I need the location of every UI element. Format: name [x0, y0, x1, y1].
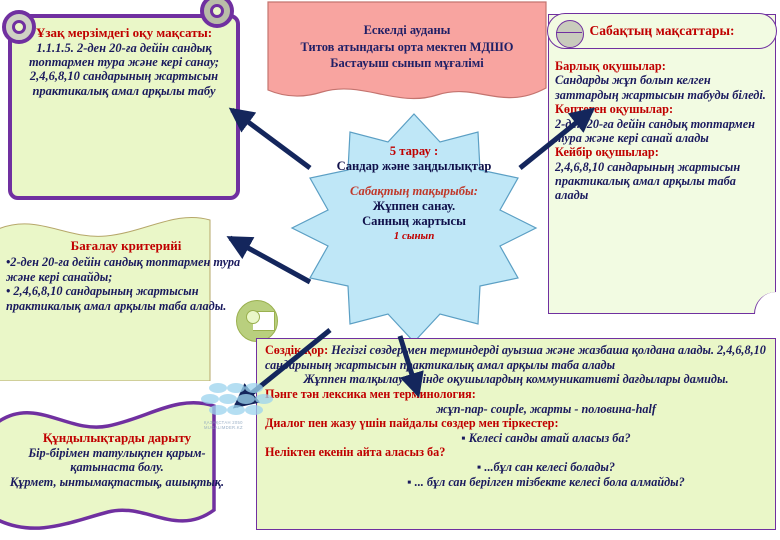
scroll-curl-icon: [236, 300, 278, 342]
panel-lesson-objectives: Сабақтың мақсаттары: Барлық оқушылар: Са…: [548, 14, 776, 314]
vocab-line-1: Сөздік қор: Негізгі сөздер мен терминдер…: [265, 343, 767, 372]
center-star-topic: 5 тарау : Сандар және заңдылықтар Сабақт…: [288, 112, 540, 344]
values-line-2: Құрмет, ынтымақтастық, ашықтық.: [6, 475, 228, 490]
scroll-curl-icon: [556, 20, 584, 48]
scroll-curl-icon: [2, 10, 36, 44]
values-text: Құндылықтарды дарыту Бір-бірімен татулық…: [6, 430, 228, 490]
vocab-line-2: Жұппен талқылау кезінде оқушылардың комм…: [265, 372, 767, 387]
vocab-text-1: Негізгі сөздер мен терминдерді ауызша жә…: [265, 343, 766, 372]
panel-assessment-criteria: Бағалау критерийі •2-ден 20-ға дейін сан…: [0, 196, 254, 381]
chapter-number: 5 тарау :: [300, 144, 528, 159]
watermark-logo: ҚАЗАҚСТАН 2050 MUGALIMDER.KZ: [196, 378, 286, 434]
objectives-group-text-all: Сандарды жұп болып келген заттардың жарт…: [555, 73, 771, 102]
panel-vocabulary: Сөздік қор: Негізгі сөздер мен терминдер…: [256, 338, 776, 530]
objectives-group-text-some: 2,4,6,8,10 сандарының жартысын практикал…: [555, 160, 771, 203]
objectives-group-heading-all: Барлық оқушылар:: [555, 59, 771, 73]
long-term-title: Ұзақ мерзімдегі оқу мақсаты:: [22, 26, 226, 41]
grade-label: 1 сынып: [300, 230, 528, 243]
topic-line-2: Санның жартысы: [300, 214, 528, 229]
criteria-bullet-1: •2-ден 20-ға дейін сандық топтармен тура…: [6, 255, 246, 284]
criteria-text: Бағалау критерийі •2-ден 20-ға дейін сан…: [6, 238, 246, 313]
objectives-title: Сабақтың мақсаттары:: [589, 23, 734, 38]
objectives-group-heading-some: Кейбір оқушылар:: [555, 145, 771, 159]
chapter-name: Сандар және заңдылықтар: [300, 159, 528, 174]
page-curl-icon: [754, 292, 776, 314]
topic-line-1: Жұппен санау.: [300, 199, 528, 214]
vocab-heading-3: Диалог пен жазу үшін пайдалы сөздер мен …: [265, 416, 559, 430]
vocab-heading-1: Сөздік қор:: [265, 343, 328, 357]
vocab-line-7: Неліктен екенін айта аласыз ба?: [265, 445, 767, 460]
long-term-line-2: 2,4,6,8,10 сандарының жартысын практикал…: [22, 69, 226, 98]
vocab-phrase-1: ▪ Келесі санды атай аласыз ба?: [461, 431, 630, 445]
star-topic-text: 5 тарау : Сандар және заңдылықтар Сабақт…: [300, 144, 528, 243]
objectives-group-heading-most: Көптеген оқушылар:: [555, 102, 771, 116]
values-line-1: Бір-бірімен татулықпен қарым-қатынаста б…: [6, 446, 228, 476]
vocab-phrase-3: ▪ ... бұл сан берілген тізбекте келесі б…: [407, 475, 684, 489]
vocab-text-2: Жұппен талқылау кезінде оқушылардың комм…: [303, 372, 728, 386]
vocab-line-8: ▪ ...бұл сан келесі болады?: [265, 460, 767, 475]
vocab-terms: жұп-пар- couple, жарты - половина-half: [436, 402, 656, 416]
vocab-line-5: Диалог пен жазу үшін пайдалы сөздер мен …: [265, 416, 767, 431]
panel-long-term-goal: Ұзақ мерзімдегі оқу мақсаты: 1.1.1.5. 2-…: [8, 14, 240, 200]
objectives-tab-header: Сабақтың мақсаттары:: [547, 13, 777, 49]
school-banner-text: Ескелді ауданы Титов атындағы орта мекте…: [262, 22, 552, 72]
vocab-heading-2: Пәнге тән лексика мен терминология:: [265, 387, 476, 401]
watermark-line-2: MUGALIMDER.KZ: [204, 425, 243, 430]
values-title: Құндылықтарды дарыту: [6, 430, 228, 446]
vocab-line-9: ▪ ... бұл сан берілген тізбекте келесі б…: [265, 475, 767, 490]
objectives-body: Барлық оқушылар: Сандарды жұп болып келг…: [555, 59, 771, 203]
teacher-role: Бастауыш сынып мұғалімі: [262, 55, 552, 72]
long-term-line-1: 1.1.1.5. 2-ден 20-ға дейін сандық топтар…: [22, 41, 226, 70]
school-district: Ескелді ауданы: [262, 22, 552, 39]
vocab-line-4: жұп-пар- couple, жарты - половина-half: [265, 402, 767, 417]
banner-school-header: Ескелді ауданы Титов атындағы орта мекте…: [262, 0, 552, 112]
slide-canvas: Ұзақ мерзімдегі оқу мақсаты: 1.1.1.5. 2-…: [0, 0, 780, 540]
criteria-title: Бағалау критерийі: [6, 238, 246, 253]
vocab-phrase-2: ▪ ...бұл сан келесі болады?: [477, 460, 615, 474]
criteria-bullet-2: • 2,4,6,8,10 сандарының жартысын практик…: [6, 284, 246, 313]
school-name: Титов атындағы орта мектеп МДШО: [262, 39, 552, 56]
topic-label: Сабақтың тақырыбы:: [300, 184, 528, 199]
vocab-line-6: ▪ Келесі санды атай аласыз ба?: [265, 431, 767, 446]
vocab-heading-4: Неліктен екенін айта аласыз ба?: [265, 445, 445, 459]
watermark-text: ҚАЗАҚСТАН 2050 MUGALIMDER.KZ: [204, 420, 243, 431]
vocab-line-3: Пәнге тән лексика мен терминология:: [265, 387, 767, 402]
objectives-group-text-most: 2-ден 20-ға дейін сандық топтармен тура …: [555, 117, 771, 146]
